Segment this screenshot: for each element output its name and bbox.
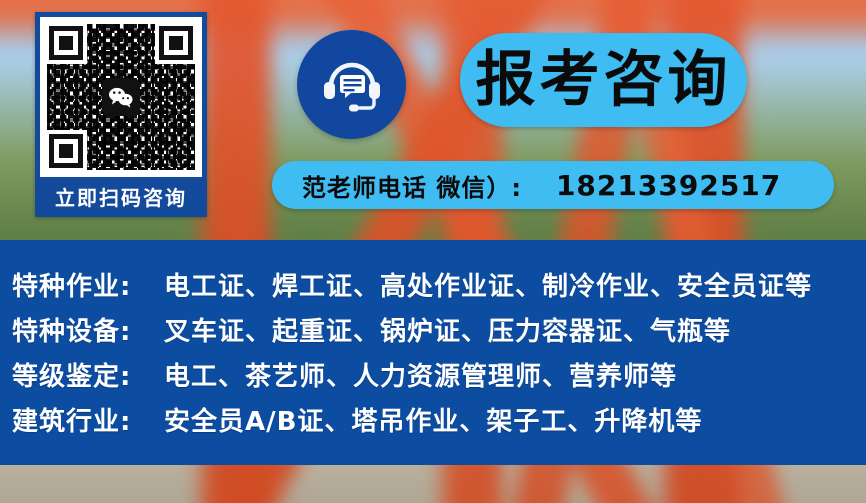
qr-code-matrix xyxy=(47,24,195,170)
category-value: 电工证、焊工证、高处作业证、制冷作业、安全员证等 xyxy=(164,266,812,303)
qr-finder-bottom-left xyxy=(49,134,83,168)
list-item: 建筑行业: 安全员A/B证、塔吊作业、架子工、升降机等 xyxy=(12,401,866,446)
list-item: 特种作业: 电工证、焊工证、高处作业证、制冷作业、安全员证等 xyxy=(12,266,866,311)
qr-card-label: 立即扫码咨询 xyxy=(40,177,202,215)
qr-finder-top-left xyxy=(49,26,83,60)
category-label: 建筑行业: xyxy=(12,401,164,438)
headset-chat-icon xyxy=(297,30,406,139)
contact-phone-label: 范老师电话 微信）: xyxy=(302,168,522,203)
category-label: 特种作业: xyxy=(12,266,164,303)
list-item: 特种设备: 叉车证、起重证、锅炉证、压力容器证、气瓶等 xyxy=(12,311,866,356)
qr-code-card[interactable]: 立即扫码咨询 xyxy=(35,12,207,217)
category-value: 叉车证、起重证、锅炉证、压力容器证、气瓶等 xyxy=(164,311,731,348)
qr-code-image-frame xyxy=(40,17,202,177)
certificate-category-panel: 特种作业: 电工证、焊工证、高处作业证、制冷作业、安全员证等 特种设备: 叉车证… xyxy=(0,240,866,465)
consult-title-pill[interactable]: 报考咨询 xyxy=(460,33,747,127)
contact-phone-pill[interactable]: 范老师电话 微信）: 18213392517 xyxy=(272,161,834,209)
category-value: 电工、茶艺师、人力资源管理师、营养师等 xyxy=(164,356,677,393)
qr-finder-top-right xyxy=(159,26,193,60)
wechat-icon xyxy=(102,78,140,116)
category-value: 安全员A/B证、塔吊作业、架子工、升降机等 xyxy=(164,401,702,438)
category-label: 特种设备: xyxy=(12,311,164,348)
list-item: 等级鉴定: 电工、茶艺师、人力资源管理师、营养师等 xyxy=(12,356,866,401)
category-label: 等级鉴定: xyxy=(12,356,164,393)
consult-title-text: 报考咨询 xyxy=(476,50,732,110)
contact-phone-number[interactable]: 18213392517 xyxy=(556,169,781,202)
promo-poster: 立即扫码咨询 报考咨询 范老师电话 微信）: 18213392517 xyxy=(0,0,866,503)
